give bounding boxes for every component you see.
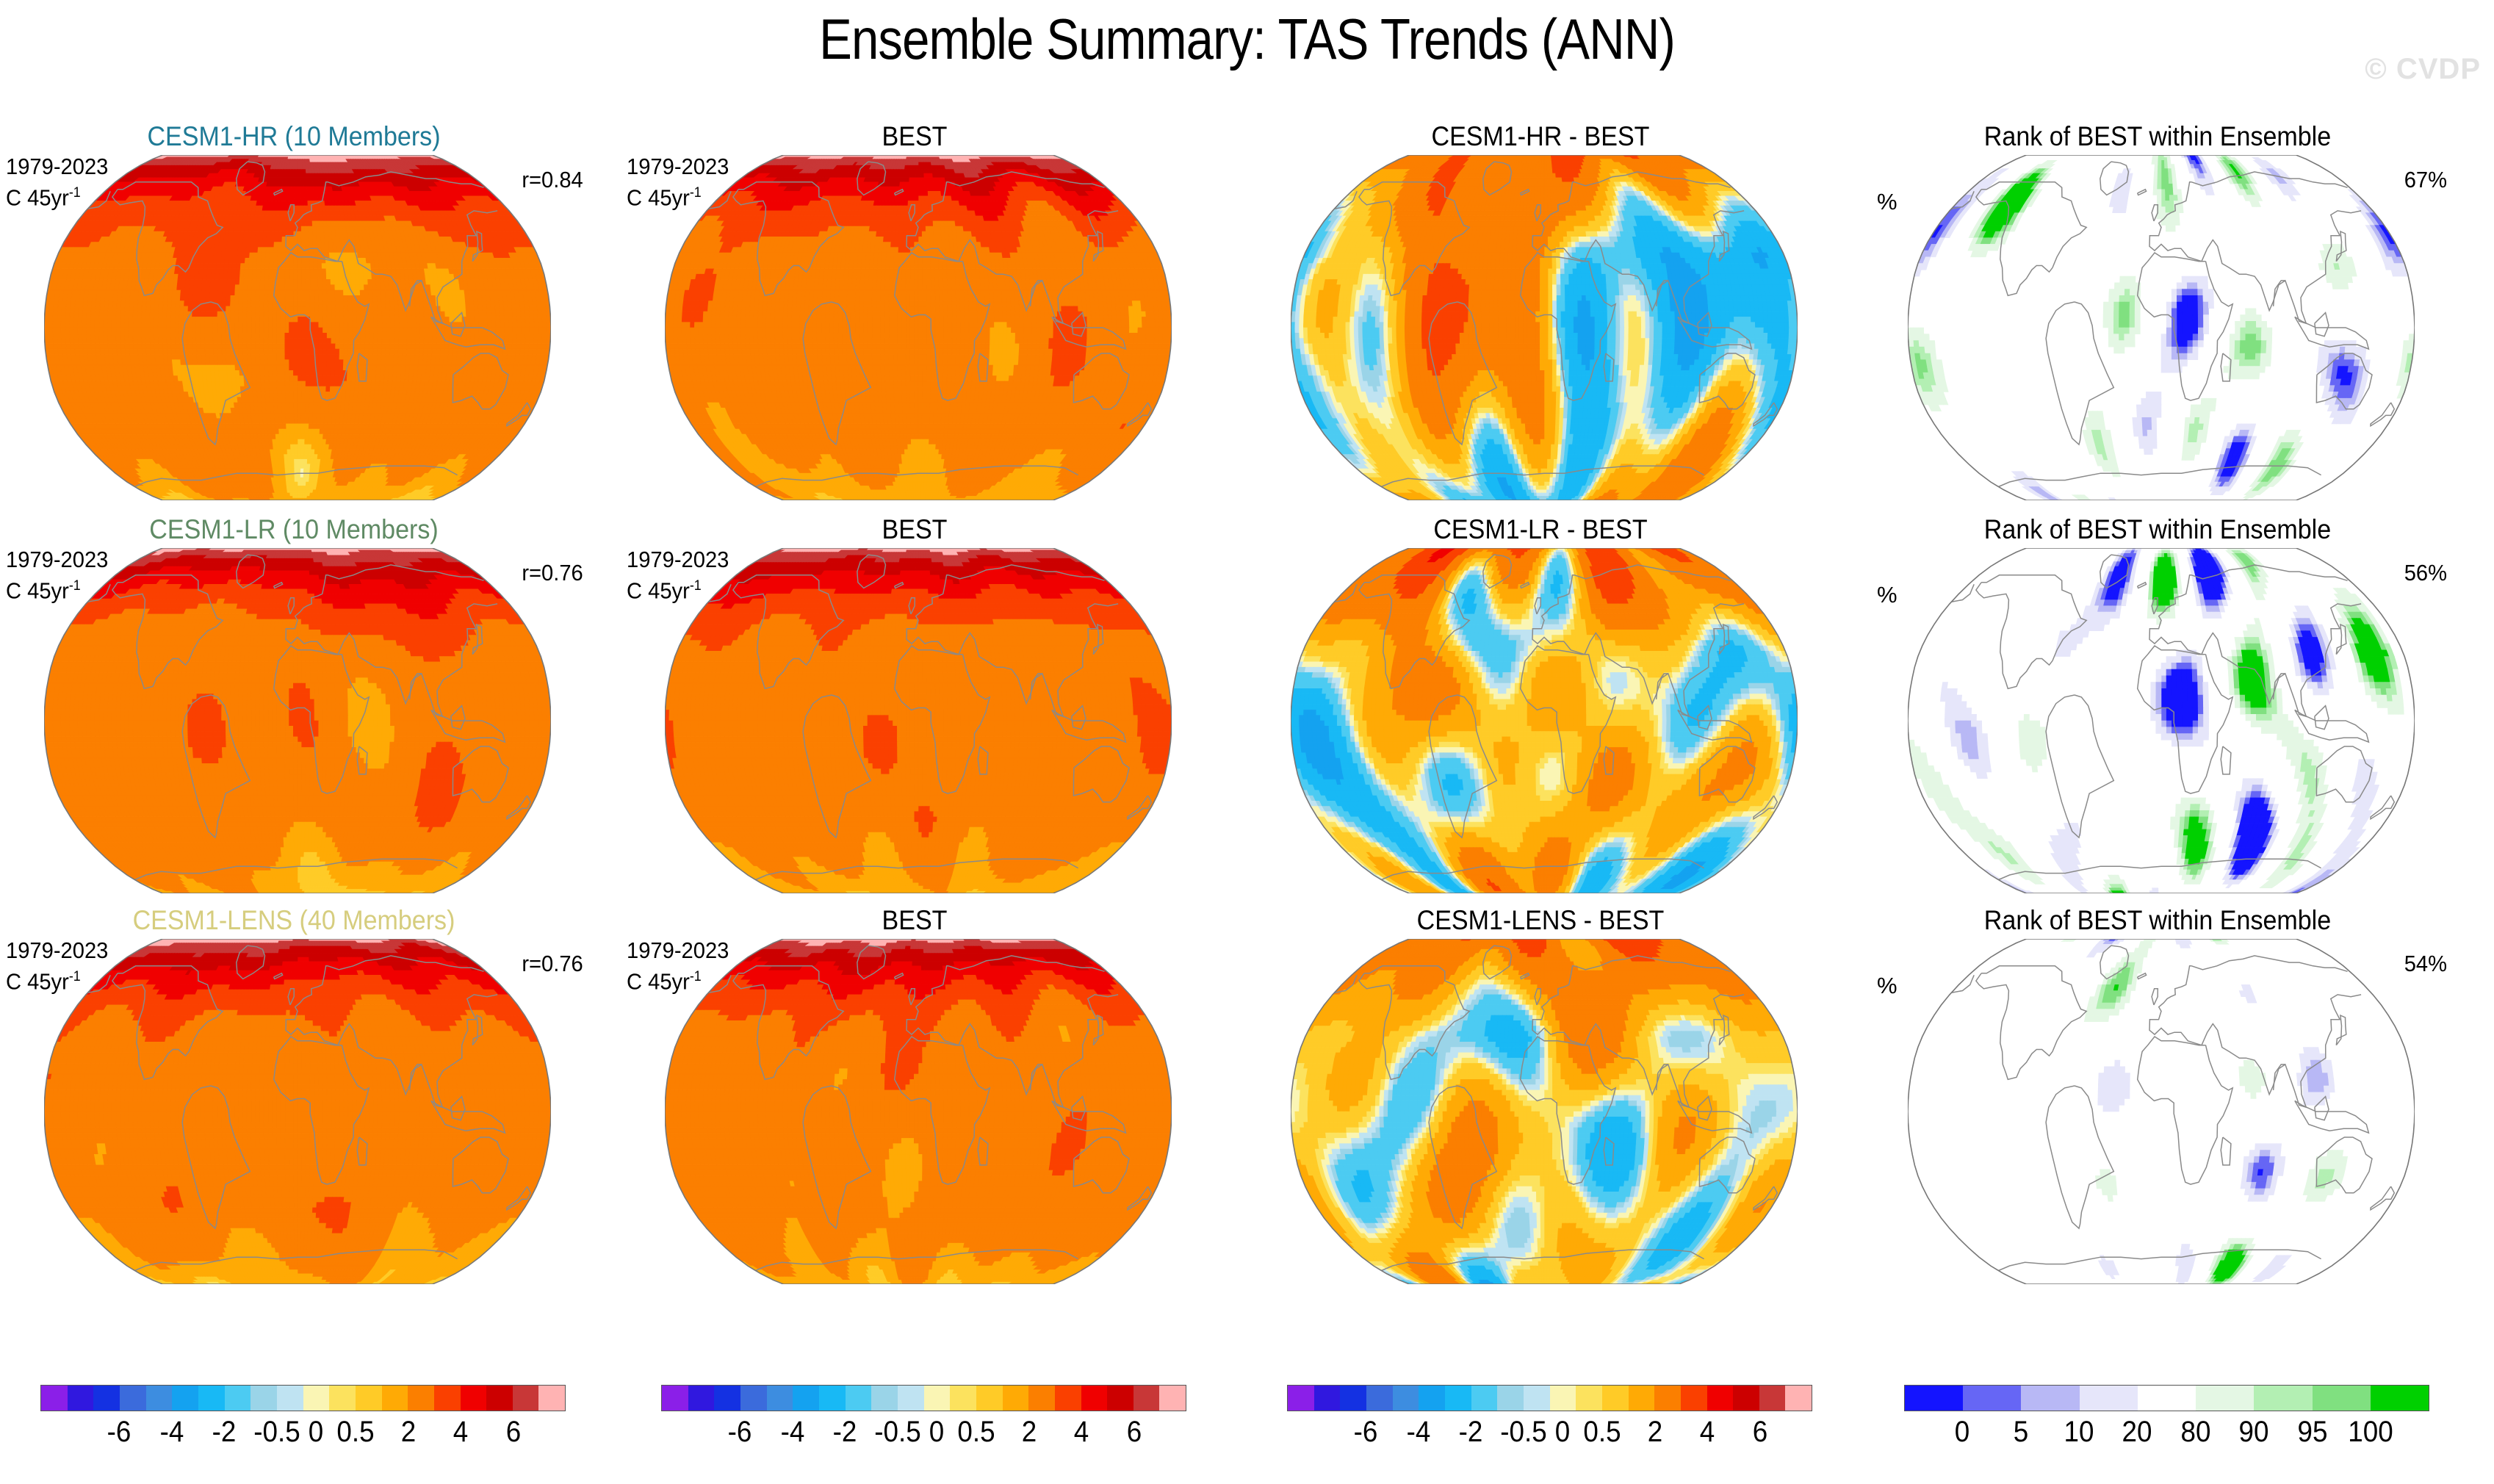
colorbar-tas-3-cell-14 [1654, 1386, 1681, 1411]
colorbar-tas-1-tick-1: -4 [159, 1416, 184, 1449]
colorbar-tas-1-tick-7: 4 [453, 1416, 468, 1449]
colorbar-tas-2-cell-1 [688, 1386, 715, 1411]
colorbar-tas-1-cell-9 [277, 1386, 303, 1411]
colorbar-tas-2-cell-13 [1003, 1386, 1029, 1411]
colorbar-tas-3-cell-16 [1707, 1386, 1734, 1411]
colorbar-rank-tick-3: 20 [2122, 1416, 2152, 1449]
page-title: Ensemble Summary: TAS Trends (ANN) [175, 6, 2320, 73]
panel-cesm1-hr-diff: CESM1-HR - BEST [1247, 121, 1834, 511]
colorbar-rank-cell-2 [2021, 1386, 2079, 1411]
colorbar-tas-2-cell-8 [871, 1386, 898, 1411]
colorbar-tas-3-cell-1 [1314, 1386, 1341, 1411]
colorbar-tas-2-cell-6 [819, 1386, 846, 1411]
map-cesm1-lr-obs [665, 548, 1172, 893]
colorbar-tas-2-tick-6: 2 [1021, 1416, 1036, 1449]
colorbar-tas-trend-col2: -6-4-2-0.500.5246 [661, 1385, 1186, 1472]
colorbar-rank-tick-2: 10 [2064, 1416, 2094, 1449]
colorbar-tas-3-tick-4: 0 [1555, 1416, 1570, 1449]
panel-cesm1-lr-diff: CESM1-LR - BEST [1247, 514, 1834, 904]
panel-cesm1-hr-obs: BEST1979-2023C 45yr-1 [621, 121, 1208, 511]
colorbar-rank-cell-7 [2313, 1386, 2371, 1411]
colorbar-tas-1-tick-4: 0 [309, 1416, 323, 1449]
colorbar-tas-3-cell-0 [1288, 1386, 1314, 1411]
colorbar-tas-3-cell-7 [1471, 1386, 1498, 1411]
panel-title-cesm1-lens-model: CESM1-LENS (40 Members) [24, 905, 564, 936]
colorbar-rank-cell-8 [2371, 1386, 2429, 1411]
colorbar-tas-1-cell-1 [68, 1386, 94, 1411]
colorbar-tas-1-cell-17 [486, 1386, 513, 1411]
colorbar-tas-2-cell-11 [950, 1386, 976, 1411]
colorbar-tas-3-cell-3 [1366, 1386, 1393, 1411]
panel-cesm1-hr-rank: Rank of BEST within Ensemble%67% [1864, 121, 2451, 511]
colorbar-tas-2-tick-4: 0 [929, 1416, 944, 1449]
colorbar-tas-trend-col1: -6-4-2-0.500.5246 [40, 1385, 566, 1472]
panel-title-cesm1-lr-obs: BEST [644, 514, 1185, 545]
panel-units-cesm1-hr-rank: % [1877, 189, 1897, 215]
map-cesm1-lr-diff [1291, 548, 1798, 893]
map-cesm1-hr-rank [1908, 155, 2415, 500]
colorbar-tas-2-labels: -6-4-2-0.500.5246 [661, 1416, 1186, 1457]
colorbar-tas-1-labels: -6-4-2-0.500.5246 [40, 1416, 566, 1457]
colorbar-tas-3-cell-17 [1733, 1386, 1759, 1411]
colorbar-tas-2-cell-4 [767, 1386, 793, 1411]
colorbar-tas-1-cell-8 [251, 1386, 277, 1411]
colorbar-tas-1-cell-3 [120, 1386, 146, 1411]
colorbar-rank-cell-3 [2080, 1386, 2138, 1411]
panel-title-cesm1-hr-rank: Rank of BEST within Ensemble [1887, 121, 2428, 152]
panel-units-cesm1-lens-rank: % [1877, 973, 1897, 999]
colorbar-rank-tick-0: 0 [1955, 1416, 1969, 1449]
colorbar-tas-1-cell-0 [41, 1386, 68, 1411]
colorbar-rank-cell-5 [2196, 1386, 2254, 1411]
colorbar-tas-trend-col3: -6-4-2-0.500.5246 [1287, 1385, 1812, 1472]
colorbar-rank-tick-4: 80 [2180, 1416, 2210, 1449]
colorbar-tas-1-cell-7 [225, 1386, 251, 1411]
colorbar-tas-2-cell-10 [924, 1386, 951, 1411]
panel-units-cesm1-lr-rank: % [1877, 582, 1897, 608]
colorbar-tas-2-cell-18 [1134, 1386, 1160, 1411]
colorbar-tas-1-tick-6: 2 [400, 1416, 415, 1449]
colorbar-tas-3-cell-19 [1785, 1386, 1812, 1411]
colorbar-rank-tick-7: 100 [2348, 1416, 2393, 1449]
colorbar-tas-3-labels: -6-4-2-0.500.5246 [1287, 1416, 1812, 1457]
map-cesm1-lens-obs [665, 939, 1172, 1284]
colorbar-tas-1-cell-11 [329, 1386, 356, 1411]
panel-title-cesm1-hr-diff: CESM1-HR - BEST [1270, 121, 1811, 152]
panel-title-cesm1-lens-diff: CESM1-LENS - BEST [1270, 905, 1811, 936]
map-cesm1-lens-diff [1291, 939, 1798, 1284]
cvdp-watermark: © CVDP [2365, 53, 2481, 86]
colorbar-tas-2-cell-7 [846, 1386, 872, 1411]
colorbar-tas-3-tick-0: -6 [1354, 1416, 1378, 1449]
colorbar-tas-2-cell-5 [793, 1386, 819, 1411]
colorbar-tas-1-cell-4 [146, 1386, 173, 1411]
panel-title-cesm1-lr-diff: CESM1-LR - BEST [1270, 514, 1811, 545]
map-cesm1-hr-diff [1291, 155, 1798, 500]
panel-cesm1-lens-model: CESM1-LENS (40 Members)1979-2023C 45yr-1… [0, 905, 588, 1294]
panel-title-cesm1-hr-model: CESM1-HR (10 Members) [24, 121, 564, 152]
colorbar-tas-3-cell-10 [1550, 1386, 1576, 1411]
colorbar-tas-3-tick-2: -2 [1459, 1416, 1483, 1449]
colorbar-tas-1-cell-12 [356, 1386, 382, 1411]
panel-title-cesm1-lr-model: CESM1-LR (10 Members) [24, 514, 564, 545]
colorbar-tas-2-tick-2: -2 [833, 1416, 857, 1449]
colorbar-tas-2-cell-19 [1159, 1386, 1186, 1411]
panel-cesm1-lr-model: CESM1-LR (10 Members)1979-2023C 45yr-1r=… [0, 514, 588, 904]
panel-cesm1-lr-rank: Rank of BEST within Ensemble%56% [1864, 514, 2451, 904]
colorbar-tas-2-tick-5: 0.5 [957, 1416, 995, 1449]
colorbar-tas-3-cell-13 [1629, 1386, 1655, 1411]
colorbar-tas-1-cell-10 [303, 1386, 330, 1411]
colorbar-tas-3-cell-2 [1340, 1386, 1366, 1411]
colorbar-tas-1-cell-2 [93, 1386, 120, 1411]
colorbar-tas-1-cell-14 [408, 1386, 434, 1411]
map-cesm1-hr-model [44, 155, 551, 500]
colorbar-rank-strip [1904, 1385, 2429, 1411]
colorbar-tas-3-cell-4 [1393, 1386, 1419, 1411]
colorbar-tas-3-tick-6: 2 [1647, 1416, 1662, 1449]
colorbar-tas-2-cell-14 [1028, 1386, 1055, 1411]
colorbar-tas-3-tick-1: -4 [1406, 1416, 1430, 1449]
colorbar-tas-1-cell-18 [513, 1386, 539, 1411]
colorbar-rank-labels: 051020809095100 [1904, 1416, 2429, 1457]
colorbar-tas-2-tick-7: 4 [1074, 1416, 1089, 1449]
colorbar-tas-1-cell-13 [382, 1386, 408, 1411]
colorbar-tas-2-strip [661, 1385, 1186, 1411]
colorbar-tas-3-tick-5: 0.5 [1583, 1416, 1621, 1449]
panel-cesm1-lens-diff: CESM1-LENS - BEST [1247, 905, 1834, 1294]
colorbar-tas-3-tick-3: -0.5 [1500, 1416, 1546, 1449]
panel-cesm1-hr-model: CESM1-HR (10 Members)1979-2023C 45yr-1r=… [0, 121, 588, 511]
colorbar-tas-2-tick-3: -0.5 [874, 1416, 920, 1449]
panel-cesm1-lens-obs: BEST1979-2023C 45yr-1 [621, 905, 1208, 1294]
map-cesm1-lr-model [44, 548, 551, 893]
colorbar-tas-2-cell-2 [714, 1386, 740, 1411]
colorbar-tas-2-cell-17 [1107, 1386, 1134, 1411]
map-cesm1-lr-rank [1908, 548, 2415, 893]
colorbar-tas-2-tick-1: -4 [780, 1416, 804, 1449]
panel-cesm1-lens-rank: Rank of BEST within Ensemble%54% [1864, 905, 2451, 1294]
colorbar-tas-2-cell-3 [740, 1386, 767, 1411]
colorbar-rank: 051020809095100 [1904, 1385, 2429, 1472]
colorbar-tas-1-tick-2: -2 [212, 1416, 237, 1449]
colorbar-rank-tick-5: 90 [2239, 1416, 2269, 1449]
panel-title-cesm1-lens-rank: Rank of BEST within Ensemble [1887, 905, 2428, 936]
colorbar-tas-3-tick-8: 6 [1752, 1416, 1767, 1449]
colorbar-rank-cell-0 [1905, 1386, 1963, 1411]
colorbar-tas-3-strip [1287, 1385, 1812, 1411]
map-cesm1-hr-obs [665, 155, 1172, 500]
colorbar-tas-2-cell-9 [898, 1386, 924, 1411]
colorbar-rank-cell-6 [2254, 1386, 2312, 1411]
colorbar-tas-2-tick-0: -6 [728, 1416, 752, 1449]
colorbar-tas-1-cell-16 [461, 1386, 487, 1411]
colorbar-tas-1-cell-15 [434, 1386, 461, 1411]
colorbar-rank-tick-1: 5 [2013, 1416, 2028, 1449]
colorbar-tas-1-cell-19 [538, 1386, 565, 1411]
colorbar-rank-cell-1 [1963, 1386, 2021, 1411]
colorbar-tas-3-cell-8 [1497, 1386, 1524, 1411]
panel-title-cesm1-lr-rank: Rank of BEST within Ensemble [1887, 514, 2428, 545]
colorbar-tas-1-tick-8: 6 [505, 1416, 520, 1449]
colorbar-tas-1-cell-5 [172, 1386, 198, 1411]
colorbar-rank-tick-6: 95 [2297, 1416, 2327, 1449]
colorbar-tas-3-cell-12 [1602, 1386, 1629, 1411]
panel-title-cesm1-hr-obs: BEST [644, 121, 1185, 152]
colorbar-tas-2-cell-12 [976, 1386, 1003, 1411]
colorbar-tas-3-cell-5 [1419, 1386, 1445, 1411]
colorbar-tas-3-cell-9 [1524, 1386, 1550, 1411]
colorbar-tas-1-cell-6 [198, 1386, 225, 1411]
map-cesm1-lens-rank [1908, 939, 2415, 1284]
colorbar-tas-3-cell-15 [1681, 1386, 1707, 1411]
colorbar-tas-2-cell-16 [1081, 1386, 1108, 1411]
colorbar-tas-1-strip [40, 1385, 566, 1411]
colorbar-tas-1-tick-0: -6 [107, 1416, 131, 1449]
colorbar-tas-2-cell-0 [662, 1386, 688, 1411]
panel-cesm1-lr-obs: BEST1979-2023C 45yr-1 [621, 514, 1208, 904]
colorbar-tas-2-cell-15 [1055, 1386, 1081, 1411]
colorbar-tas-1-tick-5: 0.5 [336, 1416, 374, 1449]
colorbar-tas-3-cell-11 [1576, 1386, 1602, 1411]
colorbar-tas-1-tick-3: -0.5 [253, 1416, 300, 1449]
colorbar-tas-2-tick-8: 6 [1126, 1416, 1141, 1449]
colorbar-tas-3-tick-7: 4 [1700, 1416, 1715, 1449]
map-cesm1-lens-model [44, 939, 551, 1284]
colorbar-tas-3-cell-6 [1445, 1386, 1471, 1411]
panel-title-cesm1-lens-obs: BEST [644, 905, 1185, 936]
colorbar-tas-3-cell-18 [1759, 1386, 1786, 1411]
colorbar-rank-cell-4 [2138, 1386, 2196, 1411]
